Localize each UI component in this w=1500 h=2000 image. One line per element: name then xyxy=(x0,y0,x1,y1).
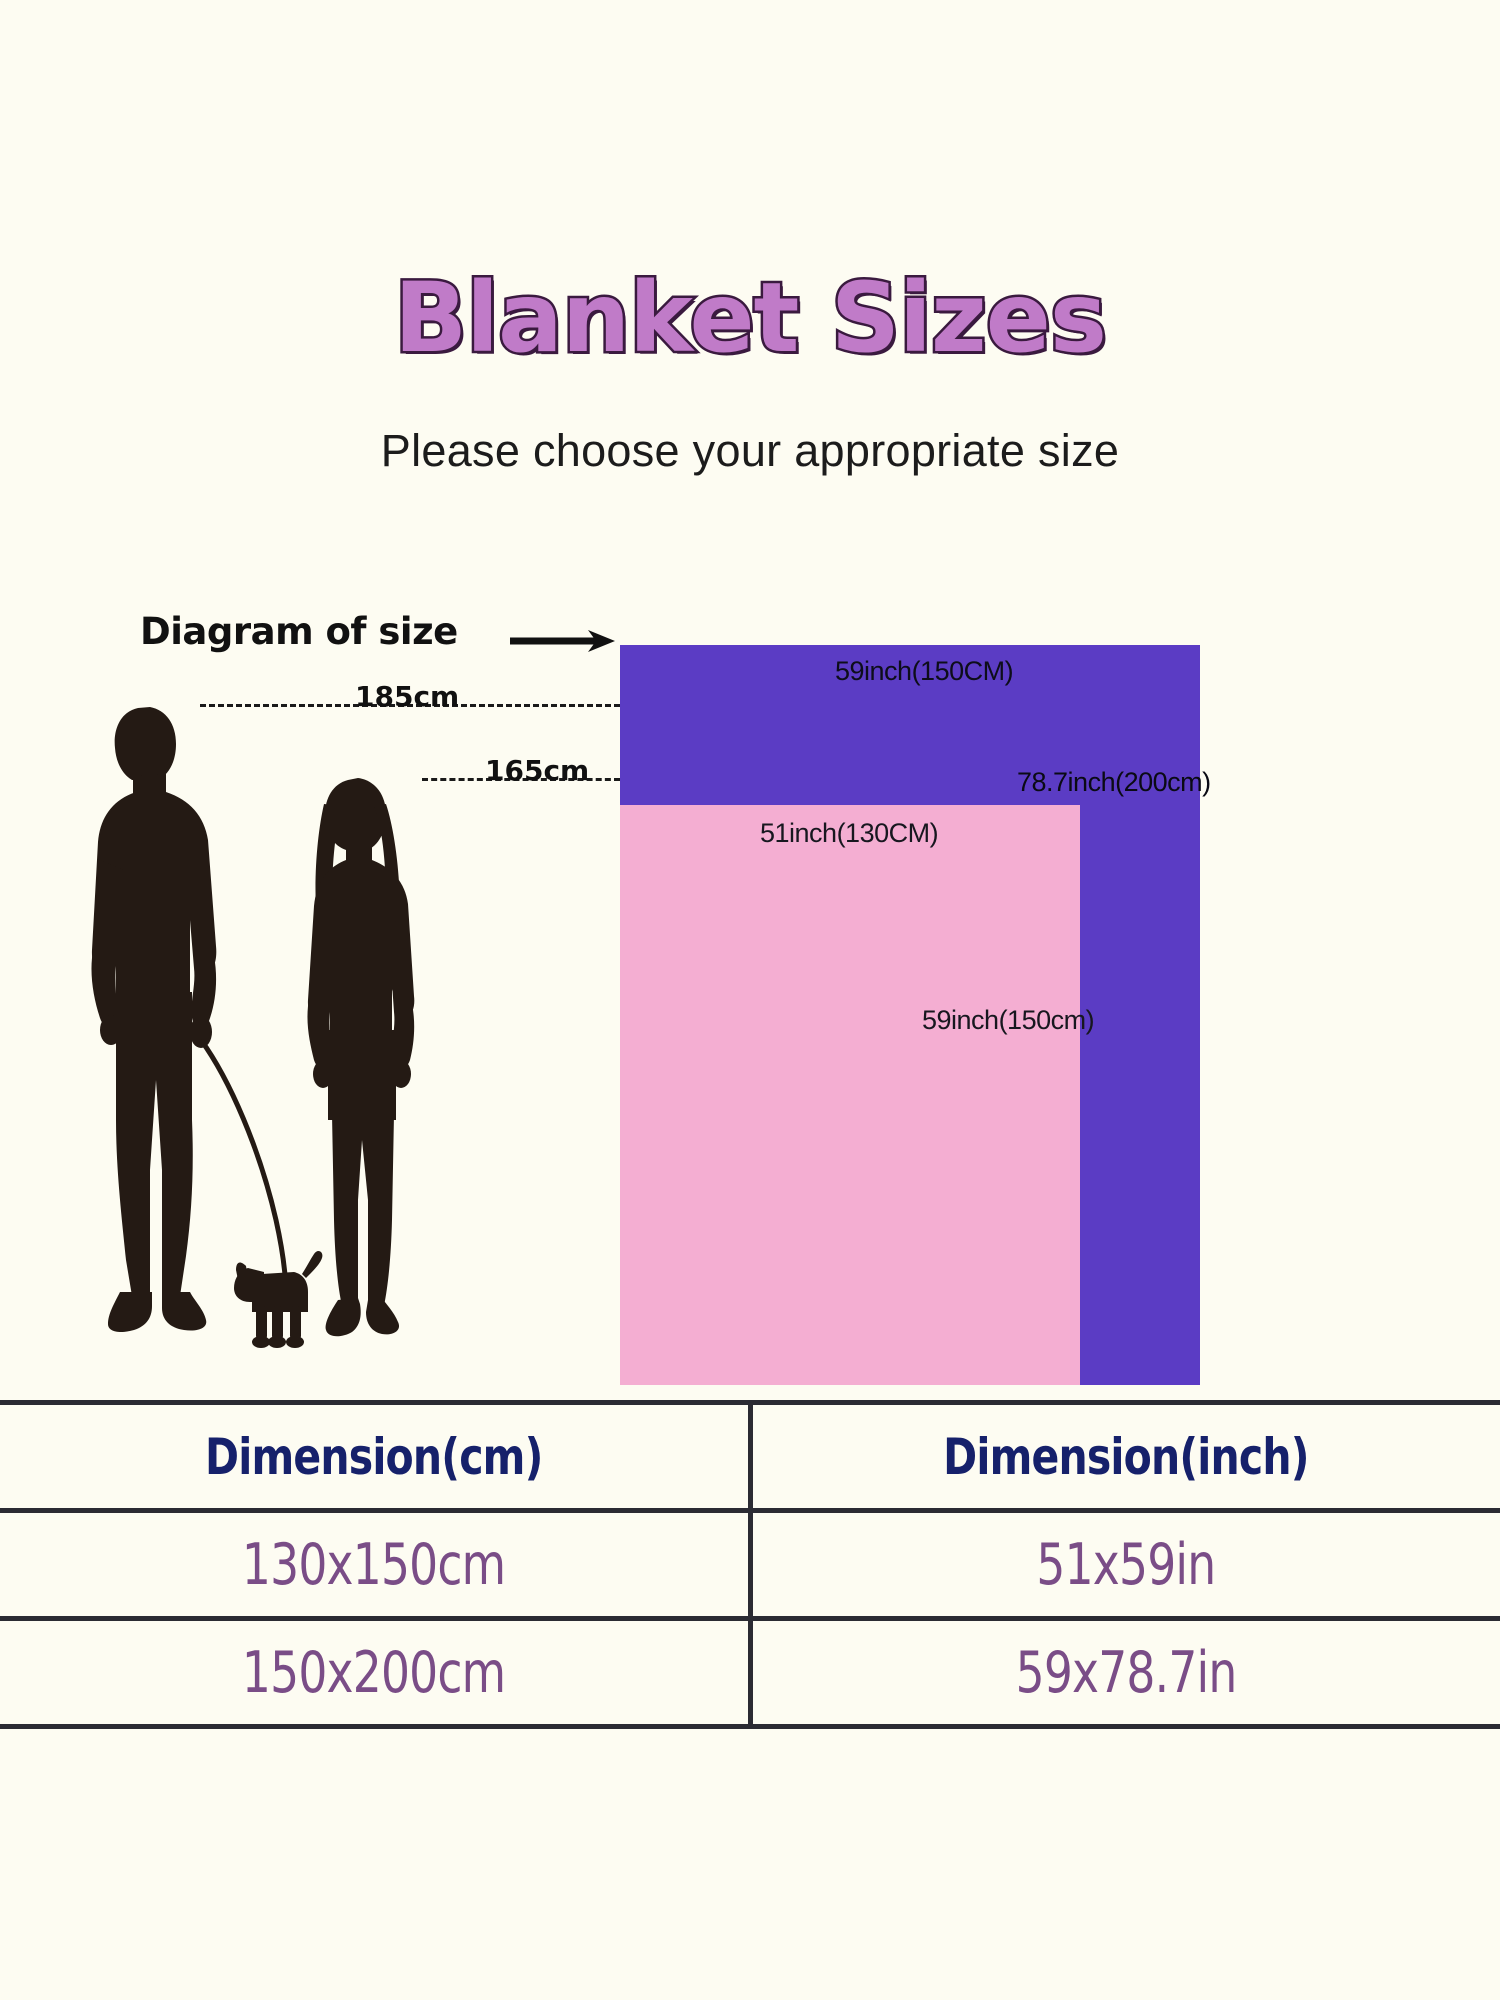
couple-with-dog-silhouette xyxy=(80,700,500,1360)
cell-size-cm-1: 130x150cm xyxy=(0,1511,750,1619)
value-inch-1: 51x59in xyxy=(1037,1532,1216,1598)
value-cm-2: 150x200cm xyxy=(242,1640,505,1706)
height-label-165: 165cm xyxy=(485,754,589,787)
table-header-cm: Dimension(cm) xyxy=(0,1403,750,1511)
page-title: Blanket Sizes xyxy=(394,270,1106,366)
header-label-cm: Dimension(cm) xyxy=(205,1428,542,1486)
cell-size-cm-2: 150x200cm xyxy=(0,1619,750,1727)
page-subtitle: Please choose your appropriate size xyxy=(381,425,1119,476)
dog-silhouette xyxy=(234,1251,322,1348)
table-row: 150x200cm 59x78.7in xyxy=(0,1619,1500,1727)
large-blanket-height-label: 78.7inch(200cm) xyxy=(1017,767,1211,798)
cell-size-inch-2: 59x78.7in xyxy=(750,1619,1500,1727)
man-silhouette xyxy=(91,707,216,1332)
table-header-row: Dimension(cm) Dimension(inch) xyxy=(0,1403,1500,1511)
diagram-of-size-label: Diagram of size xyxy=(140,610,458,653)
table-row: 130x150cm 51x59in xyxy=(0,1511,1500,1619)
woman-silhouette xyxy=(307,778,414,1336)
page-title-area: Blanket Sizes xyxy=(0,270,1500,366)
size-chart-page: Blanket Sizes Please choose your appropr… xyxy=(0,0,1500,2000)
large-blanket-width-label: 59inch(150CM) xyxy=(835,656,1013,687)
header-label-inch: Dimension(inch) xyxy=(943,1428,1309,1486)
right-arrow-icon xyxy=(510,630,615,652)
page-subtitle-area: Please choose your appropriate size xyxy=(0,425,1500,477)
value-inch-2: 59x78.7in xyxy=(1016,1640,1237,1706)
dimensions-table: Dimension(cm) Dimension(inch) 130x150cm … xyxy=(0,1400,1500,1729)
table-header-inch: Dimension(inch) xyxy=(750,1403,1500,1511)
small-blanket-rect xyxy=(620,805,1080,1385)
small-blanket-height-label: 59inch(150cm) xyxy=(922,1005,1094,1036)
cell-size-inch-1: 51x59in xyxy=(750,1511,1500,1619)
value-cm-1: 130x150cm xyxy=(242,1532,505,1598)
small-blanket-width-label: 51inch(130CM) xyxy=(760,818,938,849)
